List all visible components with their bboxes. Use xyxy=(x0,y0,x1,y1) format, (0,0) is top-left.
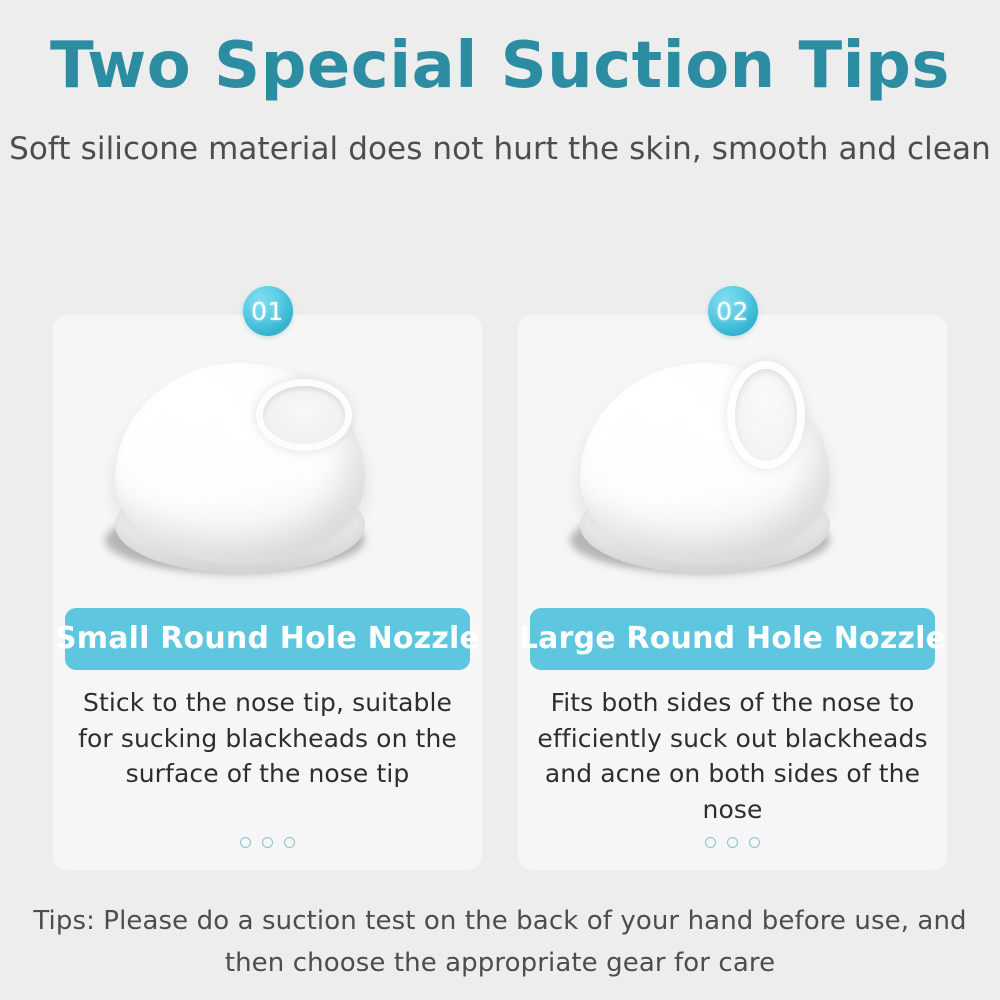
dome-body xyxy=(580,363,830,563)
nozzle-label-banner-1: Small Round Hole Nozzle xyxy=(65,608,470,670)
carousel-dots-2[interactable] xyxy=(518,837,947,848)
large-oval-hole-icon xyxy=(735,369,797,461)
nozzle-label-2: Large Round Hole Nozzle xyxy=(519,624,946,654)
carousel-dot[interactable] xyxy=(284,837,295,848)
step-badge-01: 01 xyxy=(243,286,293,336)
dome-body xyxy=(115,363,365,563)
footer-tips: Tips: Please do a suction test on the ba… xyxy=(0,900,1000,984)
step-badge-02-label: 02 xyxy=(716,299,749,324)
carousel-dot[interactable] xyxy=(749,837,760,848)
small-round-hole-icon xyxy=(263,386,345,444)
page-title: Two Special Suction Tips xyxy=(0,0,1000,98)
nozzle-label-1: Small Round Hole Nozzle xyxy=(55,624,480,654)
step-badge-01-label: 01 xyxy=(251,299,284,324)
carousel-dot[interactable] xyxy=(727,837,738,848)
carousel-dot[interactable] xyxy=(705,837,716,848)
nozzle-card-1[interactable]: 01 Small Round Hole Nozzle Stick to the … xyxy=(53,315,482,870)
page-header: Two Special Suction Tips Soft silicone m… xyxy=(0,0,1000,174)
step-badge-02: 02 xyxy=(708,286,758,336)
carousel-dot[interactable] xyxy=(262,837,273,848)
page-subtitle: Soft silicone material does not hurt the… xyxy=(0,98,1000,174)
carousel-dots-1[interactable] xyxy=(53,837,482,848)
carousel-dot[interactable] xyxy=(240,837,251,848)
nozzle-label-banner-2: Large Round Hole Nozzle xyxy=(530,608,935,670)
small-round-hole-nozzle-image xyxy=(53,349,482,607)
nozzle-description-1: Stick to the nose tip, suitable for suck… xyxy=(71,685,464,792)
large-round-hole-nozzle-image xyxy=(518,349,947,607)
nozzle-description-2: Fits both sides of the nose to efficient… xyxy=(536,685,929,827)
nozzle-card-2[interactable]: 02 Large Round Hole Nozzle Fits both sid… xyxy=(518,315,947,870)
nozzle-cards-row: 01 Small Round Hole Nozzle Stick to the … xyxy=(53,315,947,870)
